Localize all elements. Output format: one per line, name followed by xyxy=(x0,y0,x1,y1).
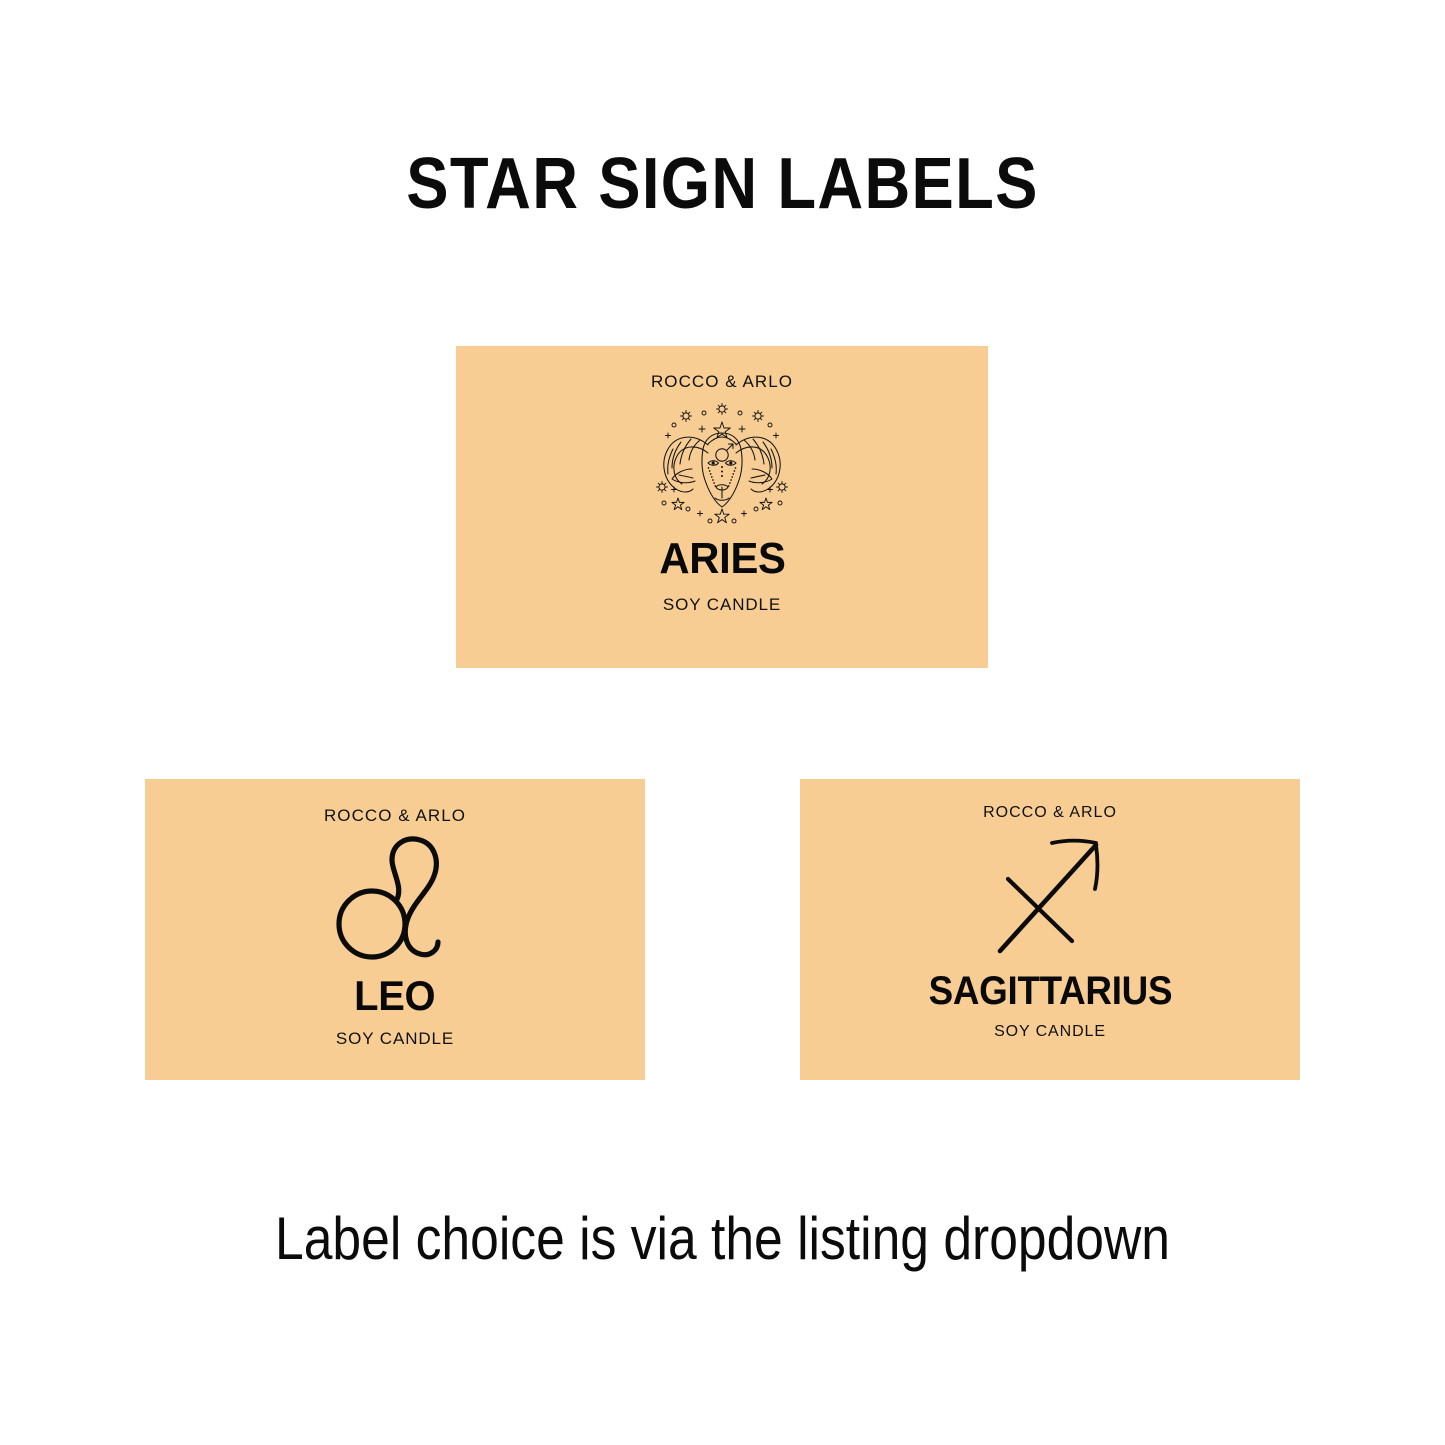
brand-name: ROCCO & ARLO xyxy=(983,804,1117,822)
brand-name: ROCCO & ARLO xyxy=(651,372,793,392)
label-card-sagittarius[interactable]: ROCCO & ARLO SAGITTARIUS SOY CANDLE xyxy=(800,779,1300,1080)
footer-caption: Label choice is via the listing dropdown xyxy=(101,1206,1344,1272)
page-title: STAR SIGN LABELS xyxy=(87,146,1359,222)
label-card-leo[interactable]: ROCCO & ARLO LEO SOY CANDLE xyxy=(145,779,645,1080)
sign-name: LEO xyxy=(354,974,435,1018)
aries-ram-head-illustration xyxy=(647,398,797,528)
product-type: SOY CANDLE xyxy=(336,1029,454,1049)
product-type: SOY CANDLE xyxy=(994,1023,1106,1041)
label-card-aries[interactable]: ROCCO & ARLO xyxy=(456,346,988,668)
sign-name: SAGITTARIUS xyxy=(928,970,1172,1012)
sagittarius-arrow-glyph xyxy=(975,824,1125,964)
sign-name: ARIES xyxy=(659,536,785,582)
label-product-sheet: STAR SIGN LABELS ROCCO & ARLO xyxy=(0,0,1445,1445)
brand-name: ROCCO & ARLO xyxy=(324,806,466,826)
product-type: SOY CANDLE xyxy=(663,595,781,615)
leo-zodiac-glyph xyxy=(325,828,465,968)
